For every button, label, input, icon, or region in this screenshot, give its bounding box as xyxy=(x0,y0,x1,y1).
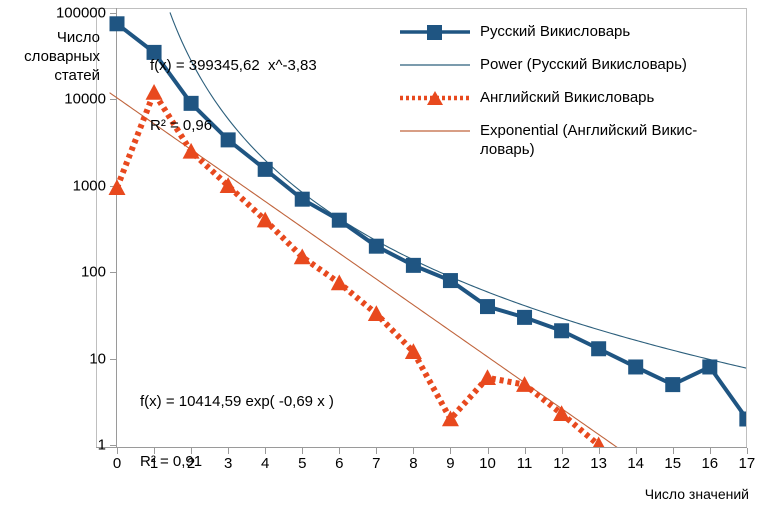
power-r2-line: R² = 0,96 xyxy=(150,116,317,136)
y-axis-tick-label: 1 xyxy=(98,437,106,454)
x-axis-tick xyxy=(413,448,414,454)
x-axis-tick xyxy=(710,448,711,454)
legend-item-power-trendline[interactable]: Power (Русский Викисловарь) xyxy=(398,55,743,75)
legend-item-english-wiktionary[interactable]: Английский Викисловарь xyxy=(398,88,743,108)
legend-key-thick-line-square-marker xyxy=(398,22,472,42)
y-axis-title-line-2: словарных xyxy=(4,47,100,66)
y-axis-tick xyxy=(110,13,116,14)
y-axis-tick xyxy=(110,359,116,360)
legend-key-thin-line xyxy=(398,121,472,141)
x-axis-tick xyxy=(636,448,637,454)
y-axis-tick-label: 10000 xyxy=(64,91,106,108)
x-axis-tick xyxy=(747,448,748,454)
x-axis-tick xyxy=(488,448,489,454)
power-equation-line: f(x) = 399345,62 x^-3,83 xyxy=(150,56,317,76)
x-axis-tick xyxy=(525,448,526,454)
x-axis-tick-label: 8 xyxy=(409,455,417,472)
y-axis-tick xyxy=(110,445,116,446)
y-axis-tick-label: 1000 xyxy=(73,177,106,194)
x-axis-tick-label: 9 xyxy=(446,455,454,472)
x-axis-tick-label: 12 xyxy=(553,455,570,472)
legend-item-russian-wiktionary[interactable]: Русский Викисловарь xyxy=(398,22,743,42)
y-axis-tick-label: 100 xyxy=(81,264,106,281)
x-axis-tick xyxy=(450,448,451,454)
y-axis-line xyxy=(116,8,117,448)
y-axis-tick xyxy=(110,186,116,187)
y-axis-tick-label: 10 xyxy=(89,350,106,367)
x-axis-tick xyxy=(117,448,118,454)
x-axis-tick-label: 15 xyxy=(664,455,681,472)
x-axis-tick-label: 10 xyxy=(479,455,496,472)
x-axis-tick xyxy=(562,448,563,454)
legend-item-exponential-trendline[interactable]: Exponential (Английский Викис-ловарь) xyxy=(398,121,743,159)
x-axis-tick-label: 11 xyxy=(517,455,533,472)
power-equation-annotation: f(x) = 399345,62 x^-3,83 R² = 0,96 xyxy=(150,16,317,176)
y-axis-title: Число словарных статей xyxy=(4,28,100,85)
x-axis-tick-label: 17 xyxy=(739,455,756,472)
chart-root: 100000100001000100101 012345678910111213… xyxy=(0,0,763,512)
y-axis-tick xyxy=(110,99,116,100)
exponential-r2-line: R² = 0,91 xyxy=(140,452,334,472)
x-axis-tick xyxy=(599,448,600,454)
x-axis-tick-label: 14 xyxy=(627,455,644,472)
legend-label: Exponential (Английский Викис-ловарь) xyxy=(480,121,743,159)
legend-label: Русский Викисловарь xyxy=(480,22,630,41)
y-axis-title-line-1: Число xyxy=(4,28,100,47)
x-axis-tick xyxy=(673,448,674,454)
x-axis-tick-label: 6 xyxy=(335,455,343,472)
legend-key-dotted-line-triangle-marker xyxy=(398,88,472,108)
x-axis-tick xyxy=(339,448,340,454)
x-axis-tick-label: 13 xyxy=(590,455,607,472)
x-axis-tick-label: 16 xyxy=(701,455,718,472)
x-axis-title: Число значений xyxy=(645,486,749,502)
x-axis-tick-label: 7 xyxy=(372,455,380,472)
exponential-equation-line: f(x) = 10414,59 exp( -0,69 x ) xyxy=(140,392,334,412)
chart-legend: Русский Викисловарь Power (Русский Викис… xyxy=(398,22,743,172)
y-axis-tick-label: 100000 xyxy=(56,5,106,22)
legend-key-thin-line xyxy=(398,55,472,75)
exponential-equation-annotation: f(x) = 10414,59 exp( -0,69 x ) R² = 0,91 xyxy=(140,352,334,512)
x-axis-tick-label: 0 xyxy=(113,455,121,472)
y-axis-tick xyxy=(110,272,116,273)
legend-label: Power (Русский Викисловарь) xyxy=(480,55,687,74)
y-axis-title-line-3: статей xyxy=(4,66,100,85)
x-axis-tick xyxy=(376,448,377,454)
legend-label: Английский Викисловарь xyxy=(480,88,654,107)
